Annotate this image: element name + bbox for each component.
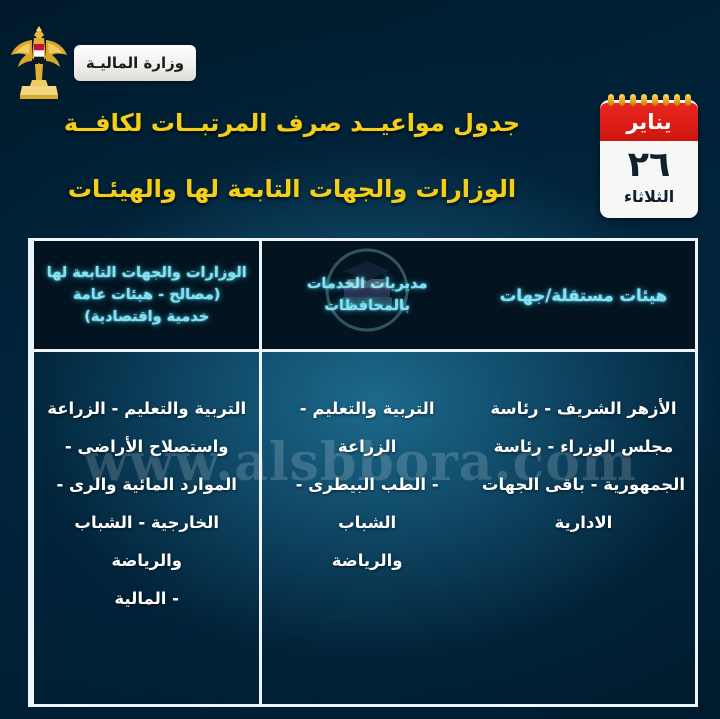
- body-line: الادارية: [555, 504, 613, 542]
- calendar-month-label: يناير: [600, 103, 698, 141]
- egypt-eagle-emblem-icon: [8, 24, 70, 102]
- table-body-row: الأزهر الشريف - رئاسة مجلس الوزراء - رئا…: [31, 352, 695, 704]
- page-title-line-1: جدول مواعيــد صرف المرتبــات لكافــة: [14, 108, 570, 138]
- body-line: - الطب البيطرى - الشباب: [270, 466, 463, 542]
- body-line: التربية والتعليم - الزراعة: [270, 390, 463, 466]
- header-line: خدمية واقتصادية): [84, 306, 209, 328]
- calendar-day-number: ٢٦: [600, 141, 698, 187]
- body-line: الخارجية - الشباب والرياضة: [44, 504, 249, 580]
- infographic-page: وزارة الماليـة جدول مواعيــد صرف المرتبـ…: [0, 0, 720, 719]
- ministry-logo: وزارة الماليـة: [8, 22, 212, 104]
- body-line: واستصلاح الأراضى -: [65, 428, 229, 466]
- calendar-day-name: الثلاثاء: [600, 187, 698, 207]
- header-band: وزارة الماليـة جدول مواعيــد صرف المرتبـ…: [0, 0, 720, 232]
- salary-schedule-table: هيئات مستقلة/جهات مديريات الخدمات بالمحا…: [28, 238, 698, 707]
- ministry-name-plate: وزارة الماليـة: [74, 45, 196, 81]
- ministry-name-label: وزارة الماليـة: [78, 54, 192, 72]
- body-line: والرياضة: [332, 542, 403, 580]
- header-line: هيئات مستقلة/جهات: [500, 283, 667, 308]
- table-cell-service-directorates: التربية والتعليم - الزراعة - الطب البيطر…: [259, 352, 471, 704]
- table-header-service-directorates: مديريات الخدمات بالمحافظات: [259, 241, 471, 349]
- header-line: (مصالح - هيئات عامة: [73, 284, 220, 306]
- table-header-ministries: الوزارات والجهات التابعة لها (مصالح - هي…: [31, 241, 259, 349]
- page-title-line-2: الوزارات والجهات التابعة لها والهيئـات: [14, 174, 570, 204]
- body-line: الأزهر الشريف - رئاسة: [490, 390, 676, 428]
- title-block: جدول مواعيــد صرف المرتبــات لكافــة الو…: [14, 108, 570, 204]
- table-header-independent-authorities: هيئات مستقلة/جهات: [472, 241, 695, 349]
- body-line: الجمهورية - باقى الجهات: [482, 466, 685, 504]
- header-line: الوزارات والجهات التابعة لها: [47, 262, 247, 284]
- body-line: الموارد المائية والرى -: [56, 466, 237, 504]
- header-line: مديريات الخدمات: [307, 273, 428, 295]
- body-line: - المالية: [114, 580, 179, 618]
- table-header-row: هيئات مستقلة/جهات مديريات الخدمات بالمحا…: [31, 241, 695, 352]
- calendar-widget: يناير ٢٦ الثلاثاء: [600, 100, 698, 218]
- body-line: مجلس الوزراء - رئاسة: [494, 428, 674, 466]
- header-line: بالمحافظات: [324, 295, 410, 317]
- table-cell-ministries: التربية والتعليم - الزراعة واستصلاح الأر…: [31, 352, 259, 704]
- table-cell-independent-authorities: الأزهر الشريف - رئاسة مجلس الوزراء - رئا…: [472, 352, 695, 704]
- calendar-rings-icon: [600, 94, 698, 106]
- body-line: التربية والتعليم - الزراعة: [47, 390, 246, 428]
